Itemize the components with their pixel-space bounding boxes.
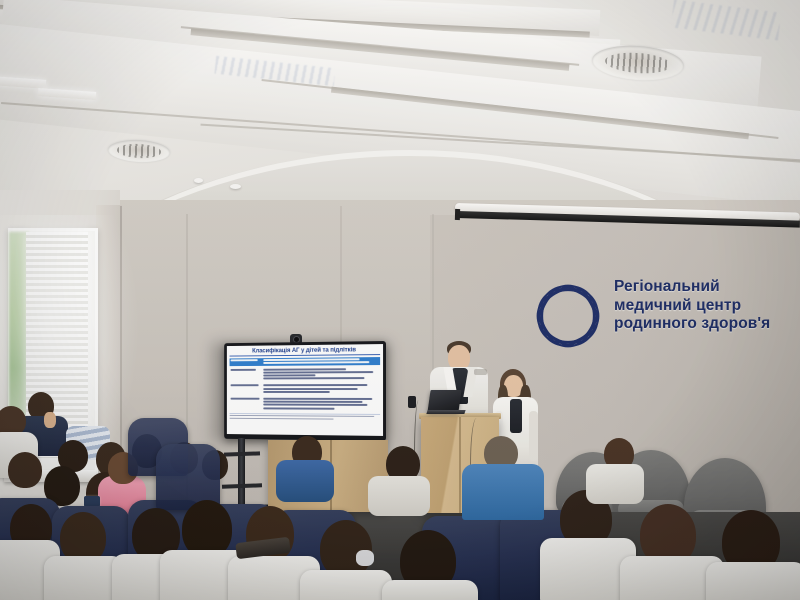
face-mask-icon <box>356 550 374 566</box>
slide-title: Класифікація АГ у дітей та підлітків <box>230 346 381 356</box>
slide-row-key <box>230 359 261 366</box>
logo-line-3: родинного здоров'я <box>614 315 800 334</box>
attendee-coat <box>382 580 478 600</box>
logo-line-2: медичний центр <box>614 297 800 316</box>
slide-row <box>230 357 381 367</box>
conference-hall-photo: Регіональний медичний центр родинного зд… <box>0 0 800 600</box>
venue-logo-text: Регіональний медичний центр родинного зд… <box>614 278 800 334</box>
attendee-body <box>276 460 334 502</box>
venue-logo: Регіональний медичний центр родинного зд… <box>530 272 800 362</box>
attendee-coat <box>368 476 430 516</box>
attendee-hand <box>44 412 56 428</box>
attendee-coat <box>586 464 644 504</box>
projector-screen-endcap <box>455 209 460 220</box>
logo-line-1: Регіональний <box>614 278 800 297</box>
attendee-head <box>8 452 42 488</box>
smoke-detector-icon <box>230 184 241 189</box>
attendee-scrubs <box>462 464 544 520</box>
smoke-detector-icon <box>194 178 203 183</box>
audience <box>0 380 800 600</box>
attendee-coat <box>300 570 392 600</box>
attendee-coat <box>706 562 800 600</box>
slide-row-value <box>263 358 379 365</box>
ring-spirograph-logo-icon <box>530 278 606 354</box>
